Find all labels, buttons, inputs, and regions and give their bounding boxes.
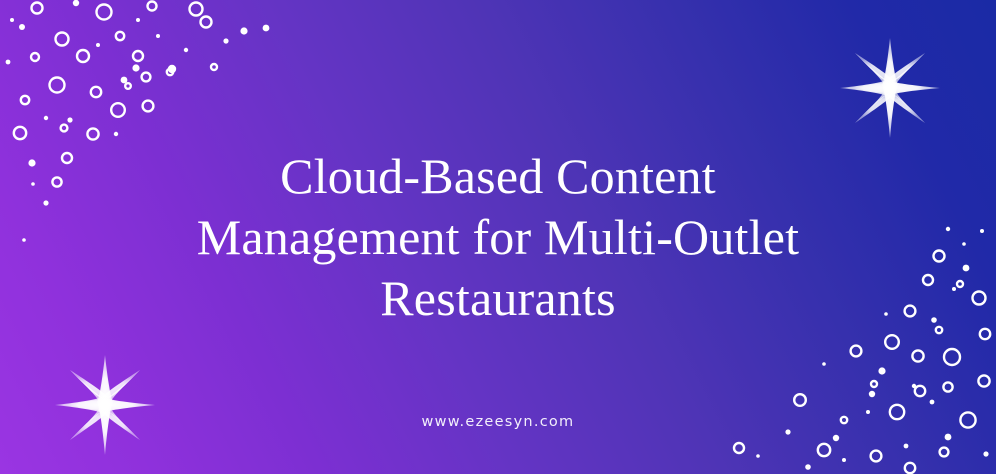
banner-content: Cloud-Based Content Management for Multi… — [0, 0, 996, 474]
page-title: Cloud-Based Content Management for Multi… — [0, 146, 996, 329]
title-line-2: Management for Multi-Outlet — [80, 207, 916, 268]
title-line-3: Restaurants — [80, 268, 916, 329]
title-card-banner: Cloud-Based Content Management for Multi… — [0, 0, 996, 474]
title-line-1: Cloud-Based Content — [80, 146, 916, 207]
